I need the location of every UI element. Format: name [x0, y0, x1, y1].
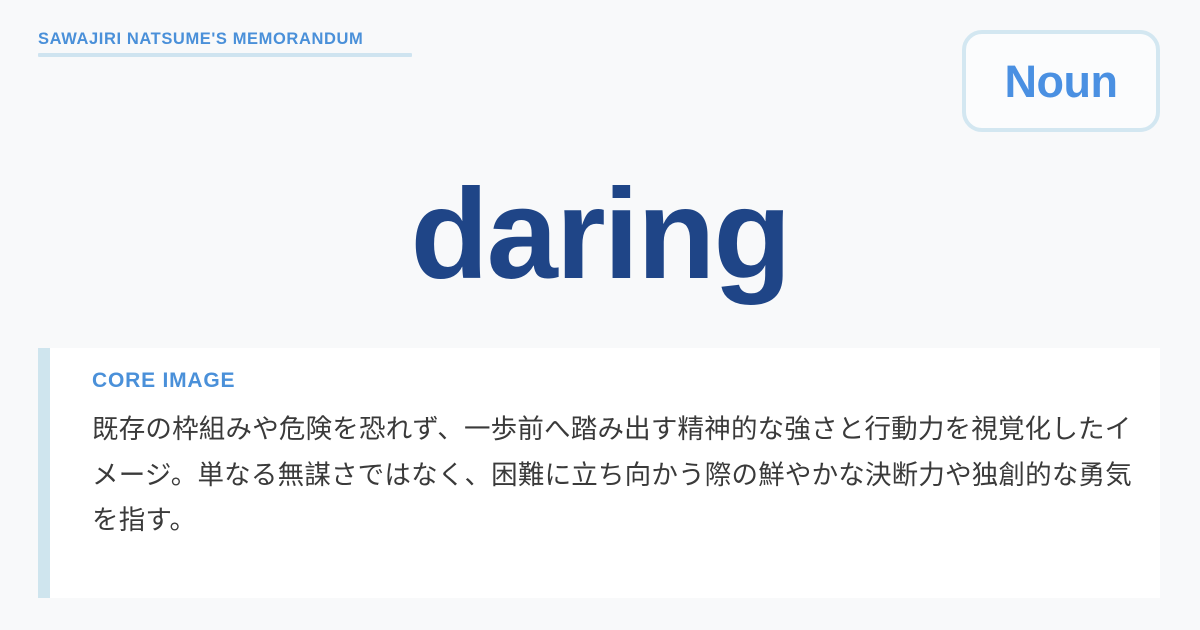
core-image-content: CORE IMAGE 既存の枠組みや危険を恐れず、一歩前へ踏み出す精神的な強さと…: [50, 348, 1160, 598]
core-image-card: CORE IMAGE 既存の枠組みや危険を恐れず、一歩前へ踏み出す精神的な強さと…: [38, 348, 1160, 598]
part-of-speech-badge: Noun: [962, 30, 1160, 132]
site-title: SAWAJIRI NATSUME'S MEMORANDUM: [38, 30, 458, 48]
core-image-accent-bar: [38, 348, 50, 598]
core-image-label: CORE IMAGE: [92, 368, 1132, 393]
site-header: SAWAJIRI NATSUME'S MEMORANDUM: [38, 30, 458, 57]
core-image-description: 既存の枠組みや危険を恐れず、一歩前へ踏み出す精神的な強さと行動力を視覚化したイメ…: [92, 407, 1132, 544]
site-title-underline: [38, 53, 412, 57]
part-of-speech-label: Noun: [1005, 59, 1118, 104]
word-card-page: SAWAJIRI NATSUME'S MEMORANDUM Noun darin…: [0, 0, 1200, 630]
headword-area: daring: [0, 168, 1200, 302]
headword: daring: [0, 168, 1200, 302]
